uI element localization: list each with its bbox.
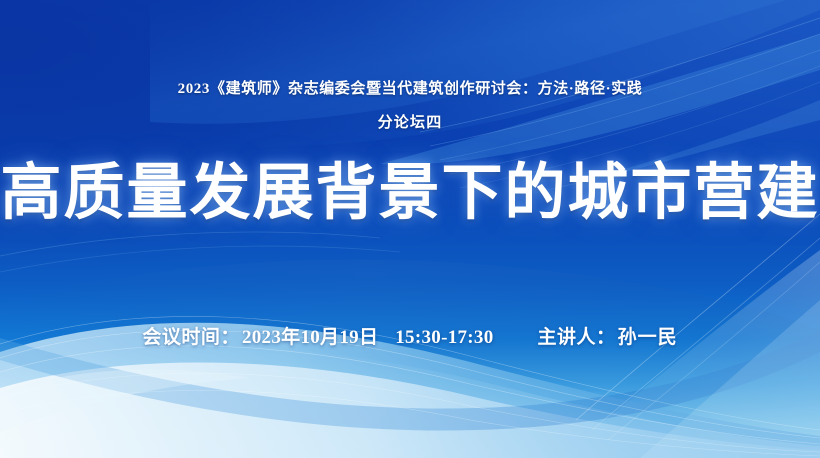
conference-poster: 2023《建筑师》杂志编委会暨当代建筑创作研讨会：方法·路径·实践 分论坛四 高… — [0, 0, 820, 458]
meeting-date-value: 2023年10月19日 — [242, 322, 378, 349]
page-title: 高质量发展背景下的城市营建 — [0, 160, 819, 228]
event-meta-row: 会议时间： 2023年10月19日 15:30-17:30 主讲人： 孙一民 — [0, 322, 820, 349]
event-subtitle-line2: 分论坛四 — [378, 111, 443, 132]
meeting-time-label: 会议时间： — [142, 322, 240, 349]
speaker-name-value: 孙一民 — [618, 322, 678, 349]
event-subtitle-line1: 2023《建筑师》杂志编委会暨当代建筑创作研讨会：方法·路径·实践 — [178, 80, 643, 98]
meeting-time-value: 15:30-17:30 — [395, 327, 493, 349]
speaker-label: 主讲人： — [538, 322, 616, 349]
poster-content: 2023《建筑师》杂志编委会暨当代建筑创作研讨会：方法·路径·实践 分论坛四 高… — [0, 0, 820, 458]
